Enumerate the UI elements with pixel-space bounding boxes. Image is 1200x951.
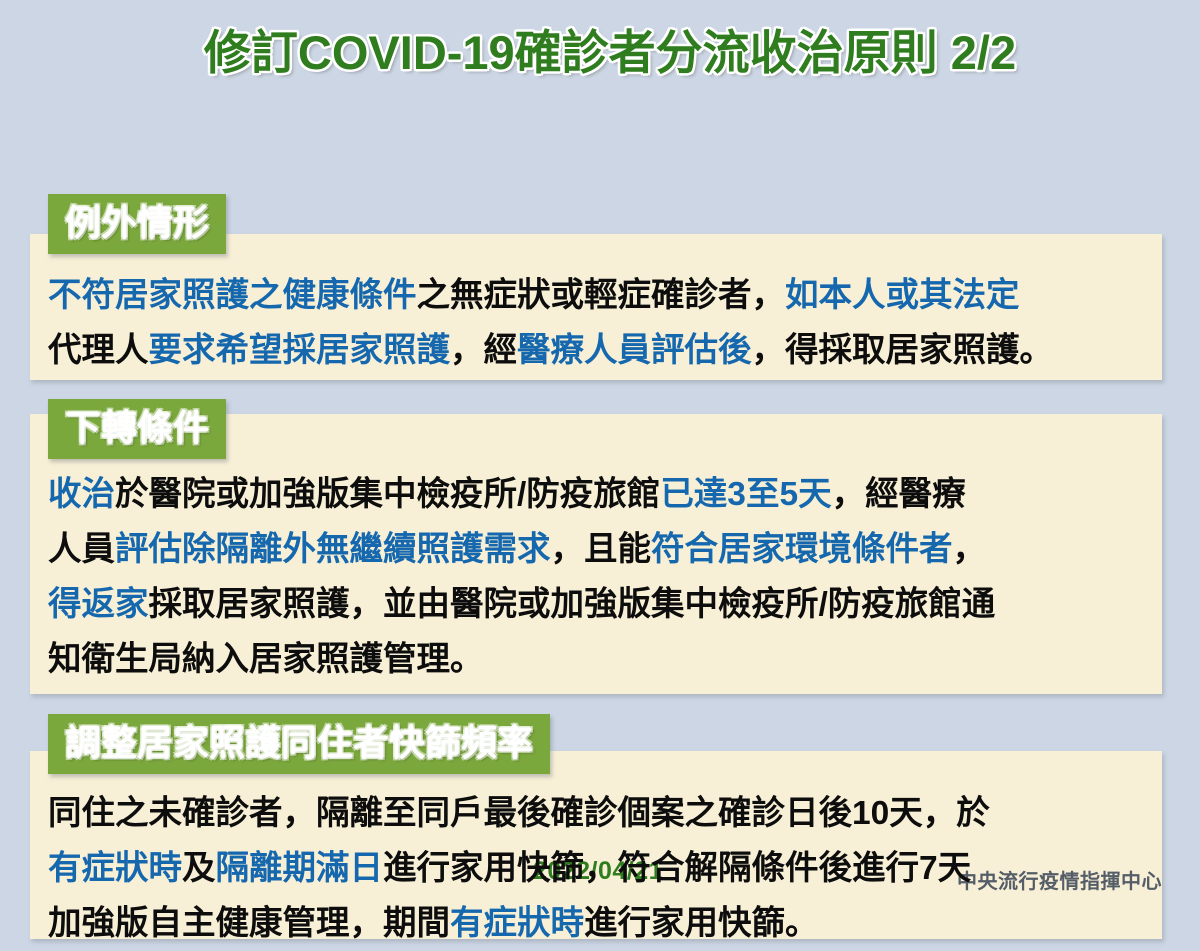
text-run: 不符居家照護之健康條件 (48, 277, 417, 314)
text-run: 有症狀時 (450, 905, 584, 942)
text-run: 於醫院或加強版集中檢疫所/防疫旅館 (115, 476, 660, 513)
text-run: 同住之未確診者，隔離至同戶最後確診個案之確診日後10天，於 (48, 795, 990, 832)
text-run: 隔離期滿日 (216, 850, 384, 887)
text-run: 人員 (48, 531, 115, 568)
text-run: 醫療人員評估後 (517, 332, 752, 369)
text-run: 之無症狀或輕症確診者， (417, 277, 786, 314)
text-line: 同住之未確診者，隔離至同戶最後確診個案之確診日後10天，於 (48, 786, 1148, 841)
section-body-rapidtest-frequency: 同住之未確診者，隔離至同戶最後確診個案之確診日後10天，於 有症狀時及隔離期滿日… (48, 786, 1148, 951)
text-run: ， (953, 531, 987, 568)
text-run: 代理人 (48, 332, 149, 369)
text-run: 收治 (48, 476, 115, 513)
section-body-downtransfer: 收治於醫院或加強版集中檢疫所/防疫旅館已達3至5天，經醫療 人員評估除隔離外無繼… (48, 467, 1148, 687)
text-run: 進行家用快篩。 (584, 905, 819, 942)
text-line: 代理人要求希望採居家照護，經醫療人員評估後，得採取居家照護。 (48, 323, 1148, 378)
text-run: 已達3至5天 (660, 476, 831, 513)
page-title: 修訂COVID-19確診者分流收治原則 2/2 (204, 14, 1016, 83)
text-run: ，經醫療 (832, 476, 966, 513)
text-line: 得返家採取居家照護，並由醫院或加強版集中檢疫所/防疫旅館通 (48, 577, 1148, 632)
text-run: ，經 (450, 332, 517, 369)
section-badge-rapidtest-frequency: 調整居家照護同住者快篩頻率 (48, 714, 550, 774)
text-run: 加強版自主健康管理，期間 (48, 905, 450, 942)
text-run: 評估除隔離外無繼續照護需求 (115, 531, 551, 568)
text-run: 及 (182, 850, 216, 887)
text-run: 如本人或其法定 (785, 277, 1020, 314)
text-line: 不符居家照護之健康條件之無症狀或輕症確診者，如本人或其法定 (48, 268, 1148, 323)
text-run: 採取居家照護，並由醫院或加強版集中檢疫所/防疫旅館通 (149, 586, 996, 623)
section-body-exception: 不符居家照護之健康條件之無症狀或輕症確診者，如本人或其法定 代理人要求希望採居家… (48, 268, 1148, 378)
page-title-bar: 修訂COVID-19確診者分流收治原則 2/2 (0, 0, 1200, 96)
text-run: ，且能 (551, 531, 652, 568)
text-run: ，得採取居家照護。 (752, 332, 1054, 369)
text-line: 知衛生局納入居家照護管理。 (48, 632, 1148, 687)
section-badge-downtransfer: 下轉條件 (48, 399, 226, 459)
text-run: 要求希望採居家照護 (149, 332, 451, 369)
text-run: 進行家用快篩，符合解隔條件後進行7天 (383, 850, 971, 887)
text-line: 人員評估除隔離外無繼續照護需求，且能符合居家環境條件者， (48, 522, 1148, 577)
section-badge-exception: 例外情形 (48, 194, 226, 254)
text-run: 符合居家環境條件者 (651, 531, 953, 568)
text-line: 有症狀時及隔離期滿日進行家用快篩，符合解隔條件後進行7天 (48, 841, 1148, 896)
text-run: 知衛生局納入居家照護管理。 (48, 641, 484, 678)
text-run: 有症狀時 (48, 850, 182, 887)
text-line: 加強版自主健康管理，期間有症狀時進行家用快篩。 (48, 896, 1148, 951)
text-line: 收治於醫院或加強版集中檢疫所/防疫旅館已達3至5天，經醫療 (48, 467, 1148, 522)
text-run: 得返家 (48, 586, 149, 623)
